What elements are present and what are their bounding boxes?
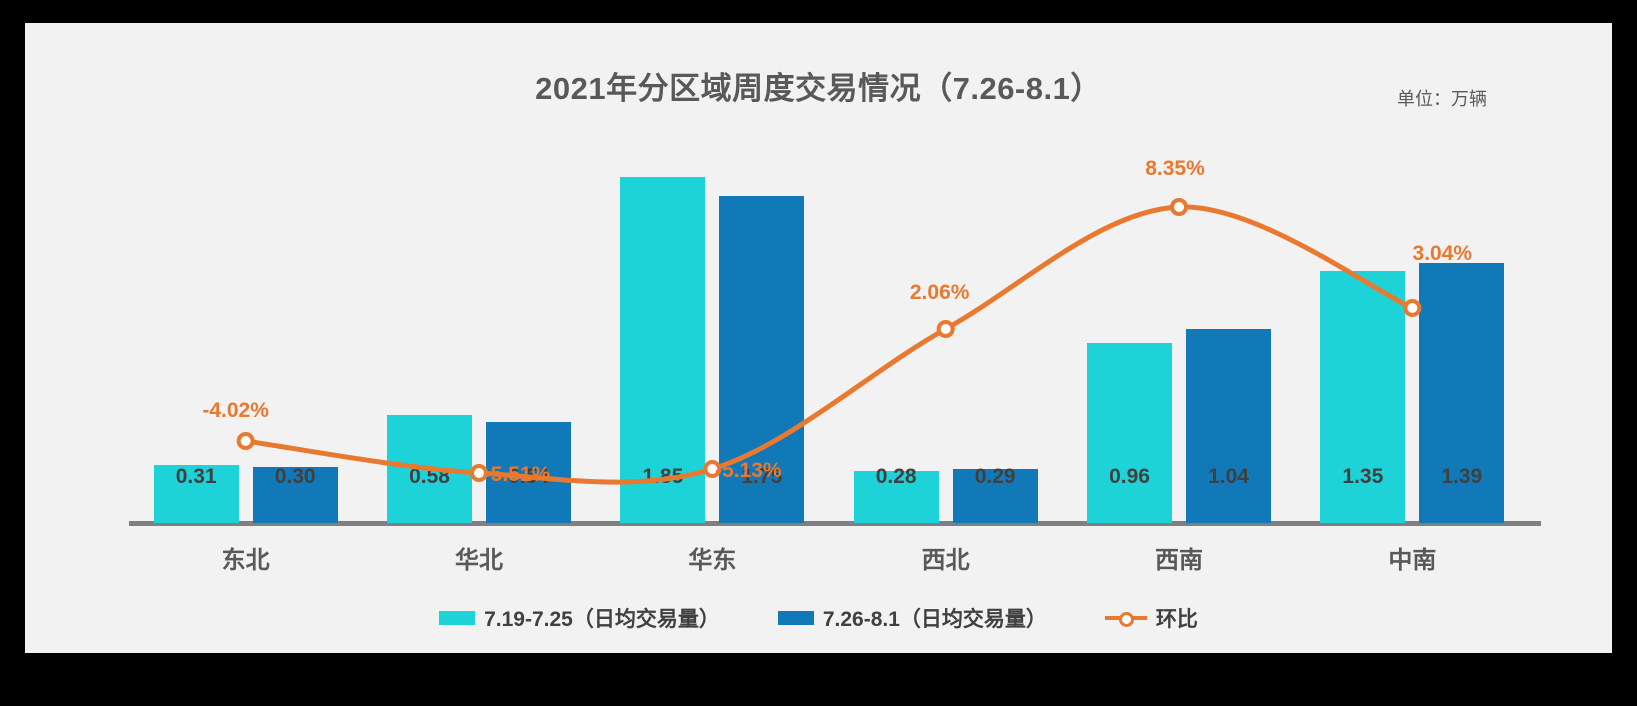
page-title: 2021年分区域周度交易情况（7.26-8.1） (25, 63, 1612, 108)
ratio-line-series (129, 123, 1529, 526)
legend-label-current-week: 7.26-8.1（日均交易量） (823, 603, 1047, 633)
legend-swatch-prev-week (439, 611, 475, 625)
legend-item-prev-week[interactable]: 7.19-7.25（日均交易量） (439, 603, 720, 633)
ratio-value-label: -4.02% (176, 399, 296, 423)
legend-swatch-current-week (778, 611, 814, 625)
category-label: 西南 (1099, 540, 1259, 575)
chart-card: 2021年分区域周度交易情况（7.26-8.1） 单位：万辆 0.310.300… (25, 23, 1612, 653)
category-label: 中南 (1332, 540, 1492, 575)
ratio-point-marker[interactable] (1172, 200, 1186, 214)
unit-label: 单位：万辆 (1397, 85, 1487, 111)
category-label: 东北 (166, 540, 326, 575)
ratio-point-marker[interactable] (1405, 301, 1419, 315)
ratio-value-label: 2.06% (880, 281, 1000, 305)
ratio-value-label: -5.51% (457, 463, 577, 487)
ratio-value-label: -5.13% (688, 459, 808, 483)
legend-item-ratio[interactable]: 环比 (1105, 603, 1198, 633)
chart-legend: 7.19-7.25（日均交易量） 7.26-8.1（日均交易量） 环比 (25, 603, 1612, 633)
ratio-line-path (246, 207, 1413, 482)
category-label: 西北 (866, 540, 1026, 575)
legend-label-prev-week: 7.19-7.25（日均交易量） (484, 603, 720, 633)
legend-item-current-week[interactable]: 7.26-8.1（日均交易量） (778, 603, 1047, 633)
ratio-point-marker[interactable] (239, 434, 253, 448)
category-label: 华北 (399, 540, 559, 575)
ratio-value-label: 3.04% (1382, 242, 1502, 266)
legend-label-ratio: 环比 (1156, 603, 1198, 633)
ratio-point-marker[interactable] (939, 322, 953, 336)
legend-line-marker-ratio (1105, 611, 1147, 625)
category-label: 华东 (632, 540, 792, 575)
ratio-value-label: 8.35% (1115, 157, 1235, 181)
